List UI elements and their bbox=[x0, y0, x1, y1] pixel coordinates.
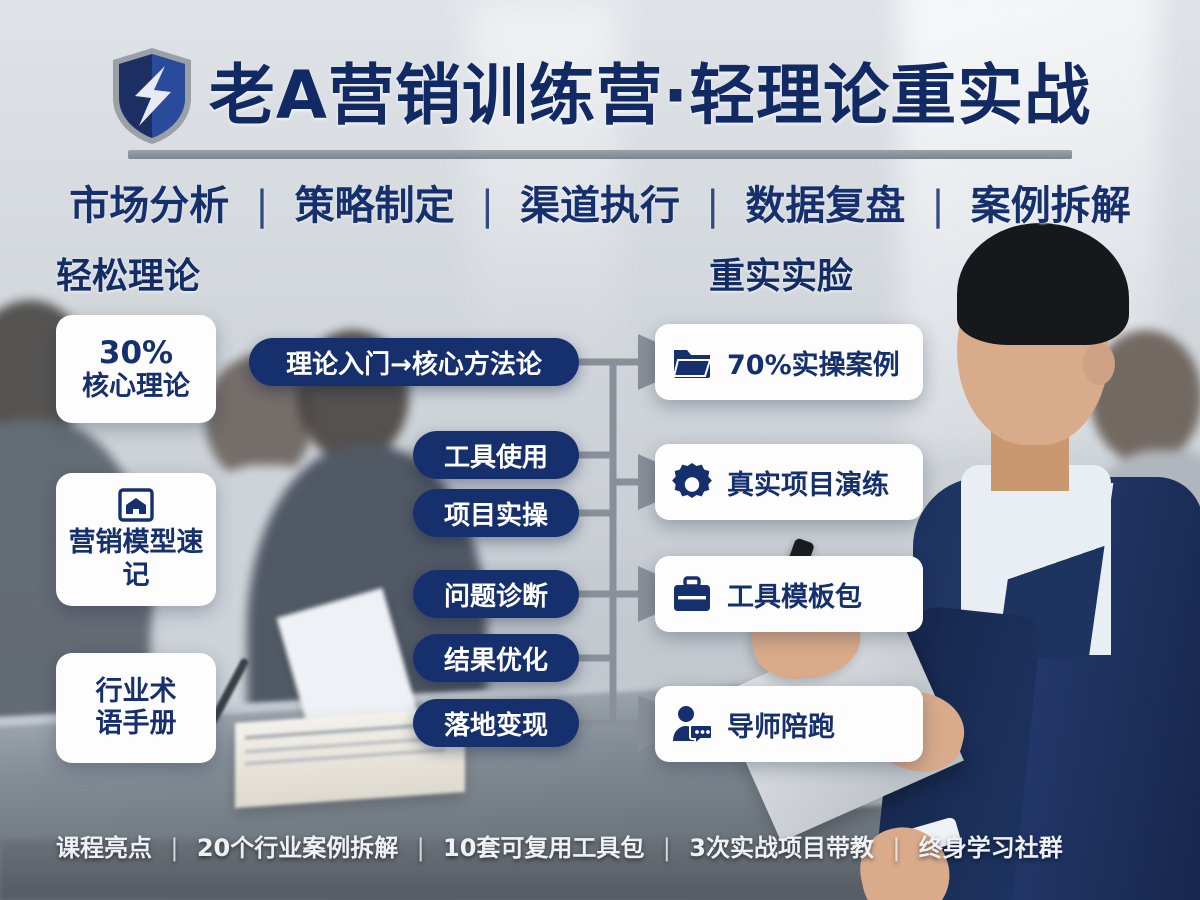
practice-card-label: 导师陪跑 bbox=[727, 705, 835, 744]
theory-card-glossary[interactable]: 行业术 语手册 bbox=[56, 653, 216, 763]
poster-footer: 课程亮点 | 20个行业案例拆解 | 10套可复用工具包 | 3次实战项目带教 … bbox=[0, 828, 1200, 863]
subtitle-item: 数据复盘 bbox=[745, 183, 905, 229]
pill-problem-diagnosis[interactable]: 问题诊断 bbox=[413, 570, 579, 618]
theory-card-core-theory[interactable]: 30% 核心理论 bbox=[56, 315, 216, 423]
theory-card-percent: 30% bbox=[99, 335, 173, 372]
pill-label: 项目实操 bbox=[444, 495, 548, 532]
footer-item: 课程亮点 bbox=[56, 834, 152, 862]
footer-item: 3次实战项目带教 bbox=[689, 834, 874, 862]
footer-separator: | bbox=[663, 834, 671, 862]
pill-label: 理论入门→核心方法论 bbox=[286, 344, 542, 381]
practice-card-tool-templates[interactable]: 工具模板包 bbox=[655, 556, 923, 632]
subtitle-tags: 市场分析 | 策略制定 | 渠道执行 | 数据复盘 | 案例拆解 bbox=[0, 173, 1200, 231]
practice-card-label: 真实项目演练 bbox=[727, 463, 889, 502]
mentor-chat-icon bbox=[671, 703, 713, 745]
theory-card-marketing-model[interactable]: 营销模型速记 bbox=[56, 473, 216, 606]
theory-card-label: 营销模型速记 bbox=[56, 527, 216, 592]
practice-card-case-studies[interactable]: 70%实操案例 bbox=[655, 324, 923, 400]
pill-label: 落地变现 bbox=[444, 705, 548, 742]
pill-label: 结果优化 bbox=[444, 640, 548, 677]
pill-label: 问题诊断 bbox=[444, 576, 548, 613]
subtitle-item: 策略制定 bbox=[295, 183, 455, 229]
subtitle-item: 渠道执行 bbox=[520, 183, 680, 229]
gear-icon bbox=[671, 461, 713, 503]
footer-item: 终身学习社群 bbox=[919, 834, 1063, 862]
title-underline-bar bbox=[128, 150, 1072, 159]
footer-item: 10套可复用工具包 bbox=[443, 834, 644, 862]
subtitle-separator: | bbox=[255, 183, 268, 229]
right-column-heading: 重实实脸 bbox=[709, 247, 853, 299]
briefcase-icon bbox=[671, 573, 713, 615]
pill-result-optimization[interactable]: 结果优化 bbox=[413, 634, 579, 682]
folder-icon bbox=[671, 341, 713, 383]
footer-separator: | bbox=[170, 834, 178, 862]
poster-header: 老A营销训练营·轻理论重实战 市场分析 | 策略制定 | 渠道执行 | 数据复盘… bbox=[0, 46, 1200, 231]
theory-card-label: 核心理论 bbox=[82, 371, 190, 403]
theory-card-label-line1: 行业术 bbox=[96, 676, 177, 708]
left-column-heading: 轻松理论 bbox=[56, 247, 200, 299]
whiteboard-icon bbox=[118, 487, 154, 523]
practice-card-real-projects[interactable]: 真实项目演练 bbox=[655, 444, 923, 520]
pill-tool-usage[interactable]: 工具使用 bbox=[413, 431, 579, 479]
footer-item: 20个行业案例拆解 bbox=[197, 834, 398, 862]
presenter-figure bbox=[905, 215, 1200, 900]
theory-card-label-line2: 语手册 bbox=[96, 708, 177, 740]
footer-separator: | bbox=[892, 834, 900, 862]
subtitle-item: 案例拆解 bbox=[971, 183, 1131, 229]
practice-card-label: 70%实操案例 bbox=[727, 343, 900, 382]
subtitle-separator: | bbox=[481, 183, 494, 229]
pill-label: 工具使用 bbox=[444, 437, 548, 474]
footer-separator: | bbox=[417, 834, 425, 862]
subtitle-item: 市场分析 bbox=[69, 183, 229, 229]
subtitle-separator: | bbox=[931, 183, 944, 229]
pill-theory-to-methodology[interactable]: 理论入门→核心方法论 bbox=[249, 338, 579, 386]
pill-monetization[interactable]: 落地变现 bbox=[413, 699, 579, 747]
page-title: 老A营销训练营·轻理论重实战 bbox=[209, 61, 1091, 130]
subtitle-separator: | bbox=[706, 183, 719, 229]
practice-card-mentor-support[interactable]: 导师陪跑 bbox=[655, 686, 923, 762]
pill-project-practice[interactable]: 项目实操 bbox=[413, 489, 579, 537]
practice-card-label: 工具模板包 bbox=[727, 575, 862, 614]
poster-canvas: 老A营销训练营·轻理论重实战 市场分析 | 策略制定 | 渠道执行 | 数据复盘… bbox=[0, 0, 1200, 900]
shield-lightning-icon bbox=[109, 46, 195, 146]
